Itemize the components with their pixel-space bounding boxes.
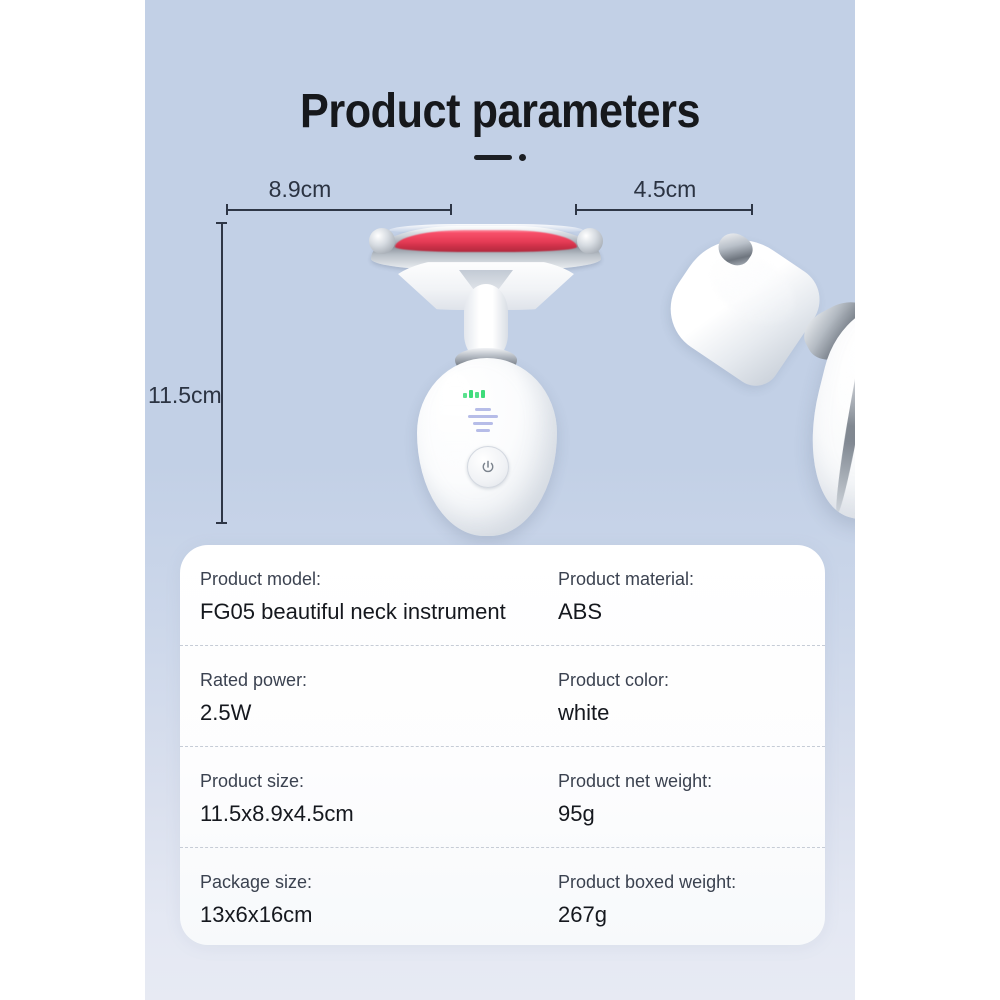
specification-card: Product model: FG05 beautiful neck instr… [180,545,825,945]
content-panel: Product parameters 8.9cm 11.5cm 4.5cm [145,0,855,1000]
dimension-cap-left [226,204,228,215]
spec-cell-rated-power: Rated power: 2.5W [200,668,307,729]
page-title: Product parameters [181,84,820,139]
infographic-canvas: Product parameters 8.9cm 11.5cm 4.5cm [0,0,1000,1000]
dimension-line-front-width [226,204,452,215]
product-image-front-view [371,218,601,530]
spec-key: Product color: [558,668,669,692]
spec-cell-product-model: Product model: FG05 beautiful neck instr… [200,567,506,628]
spec-key: Product size: [200,769,354,793]
spec-value: 95g [558,797,712,830]
decoration-bar-icon [474,155,512,160]
spec-key: Package size: [200,870,313,894]
power-icon [481,460,496,475]
product-image-side-view [712,222,855,530]
spec-cell-package-size: Package size: 13x6x16cm [200,870,313,931]
dimension-label-side-width: 4.5cm [540,176,790,203]
dimension-cap-bottom [216,522,227,524]
dimension-line-stroke [221,222,223,524]
spec-cell-product-color: Product color: white [558,668,669,729]
spec-value: 2.5W [200,696,307,729]
spec-value: 267g [558,898,736,931]
red-led-glow [395,230,577,252]
dimension-label-front-width: 8.9cm [145,176,455,203]
dimension-line-stroke [226,209,452,211]
spec-key: Product material: [558,567,694,591]
mode-label-lines [459,404,507,436]
spec-row: Product size: 11.5x8.9x4.5cm Product net… [180,746,825,847]
spec-key: Product boxed weight: [558,870,736,894]
dimension-line-stroke [575,209,753,211]
decoration-dot-icon [519,154,526,161]
spec-cell-product-size: Product size: 11.5x8.9x4.5cm [200,769,354,830]
spec-key: Product model: [200,567,506,591]
dimension-cap-top [216,222,227,224]
spec-value: ABS [558,595,694,628]
head-tip-right [577,228,603,254]
spec-value: 13x6x16cm [200,898,313,931]
dimension-cap-right [450,204,452,215]
dimension-line-side-width [575,204,753,215]
dimension-line-front-height [216,222,227,524]
dimension-label-front-height: 11.5cm [148,382,222,409]
head-tip-left [369,228,395,254]
spec-value: FG05 beautiful neck instrument [200,595,506,628]
head-highlight [389,224,583,233]
dimension-cap-right [751,204,753,215]
spec-cell-net-weight: Product net weight: 95g [558,769,712,830]
spec-value: white [558,696,669,729]
title-decoration [145,150,855,164]
indicator-bars-icon [463,390,485,398]
spec-cell-product-material: Product material: ABS [558,567,694,628]
spec-row: Package size: 13x6x16cm Product boxed we… [180,847,825,948]
spec-key: Product net weight: [558,769,712,793]
spec-cell-boxed-weight: Product boxed weight: 267g [558,870,736,931]
spec-row: Rated power: 2.5W Product color: white [180,645,825,746]
spec-row: Product model: FG05 beautiful neck instr… [180,545,825,645]
spec-key: Rated power: [200,668,307,692]
power-button[interactable] [467,446,509,488]
dimension-cap-left [575,204,577,215]
spec-value: 11.5x8.9x4.5cm [200,797,354,830]
handle-highlight [698,238,807,338]
